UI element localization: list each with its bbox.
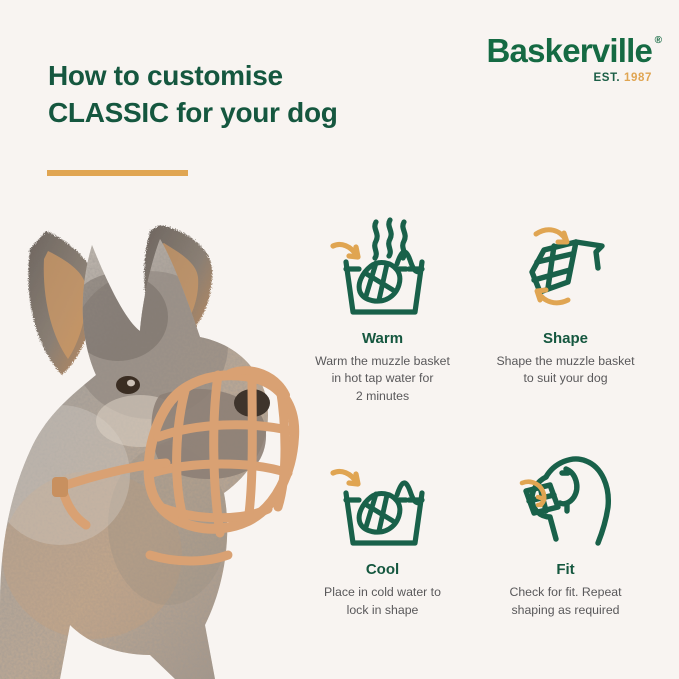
fit-icon-wrapper [477, 443, 654, 551]
step-cool: Cool Place in cold water to lock in shap… [294, 443, 471, 619]
registered-trademark-icon: ® [655, 36, 662, 46]
step-title: Cool [294, 561, 471, 578]
shape-icon-wrapper [477, 212, 654, 320]
established-label: EST. [594, 72, 621, 84]
step-title: Fit [477, 561, 654, 578]
step-description: Check for fit. Repeat shaping as require… [477, 584, 654, 619]
headline-line-1: How to customise [48, 58, 398, 95]
dog-eye-highlight [127, 380, 135, 387]
headline-line-2: CLASSIC for your dog [48, 95, 398, 132]
muzzle-shaping-arrows-icon [510, 216, 622, 320]
step-fit: Fit Check for fit. Repeat shaping as req… [477, 443, 654, 619]
step-shape: Shape Shape the muzzle basket to suit yo… [477, 212, 654, 405]
step-description: Place in cold water to lock in shape [294, 584, 471, 619]
cool-arrow-icon [333, 472, 358, 485]
title-underline-rule [47, 170, 188, 176]
brand-name: Baskerville [487, 34, 653, 67]
step-warm: Warm Warm the muzzle basket in hot tap w… [294, 212, 471, 405]
brand-established: EST. 1987 [487, 73, 653, 85]
dog-head-with-muzzle-icon [510, 447, 622, 551]
step-title: Shape [477, 330, 654, 347]
warm-arrow-icon [333, 244, 358, 257]
step-title: Warm [294, 330, 471, 347]
established-year: 1987 [624, 72, 652, 84]
steps-grid: Warm Warm the muzzle basket in hot tap w… [294, 212, 654, 619]
step-description: Warm the muzzle basket in hot tap water … [294, 353, 471, 405]
brand-logo: Baskerville® EST. 1987 [487, 34, 653, 85]
step-description: Shape the muzzle basket to suit your dog [477, 353, 654, 388]
dog-illustration [0, 225, 300, 679]
basin-cold-water-icon [327, 447, 439, 551]
page-title: How to customise CLASSIC for your dog [48, 58, 398, 132]
strap-buckle [52, 477, 68, 497]
warm-icon-wrapper [294, 212, 471, 320]
basin-with-steam-icon [327, 216, 439, 320]
dog-photo [0, 225, 300, 679]
cool-icon-wrapper [294, 443, 471, 551]
